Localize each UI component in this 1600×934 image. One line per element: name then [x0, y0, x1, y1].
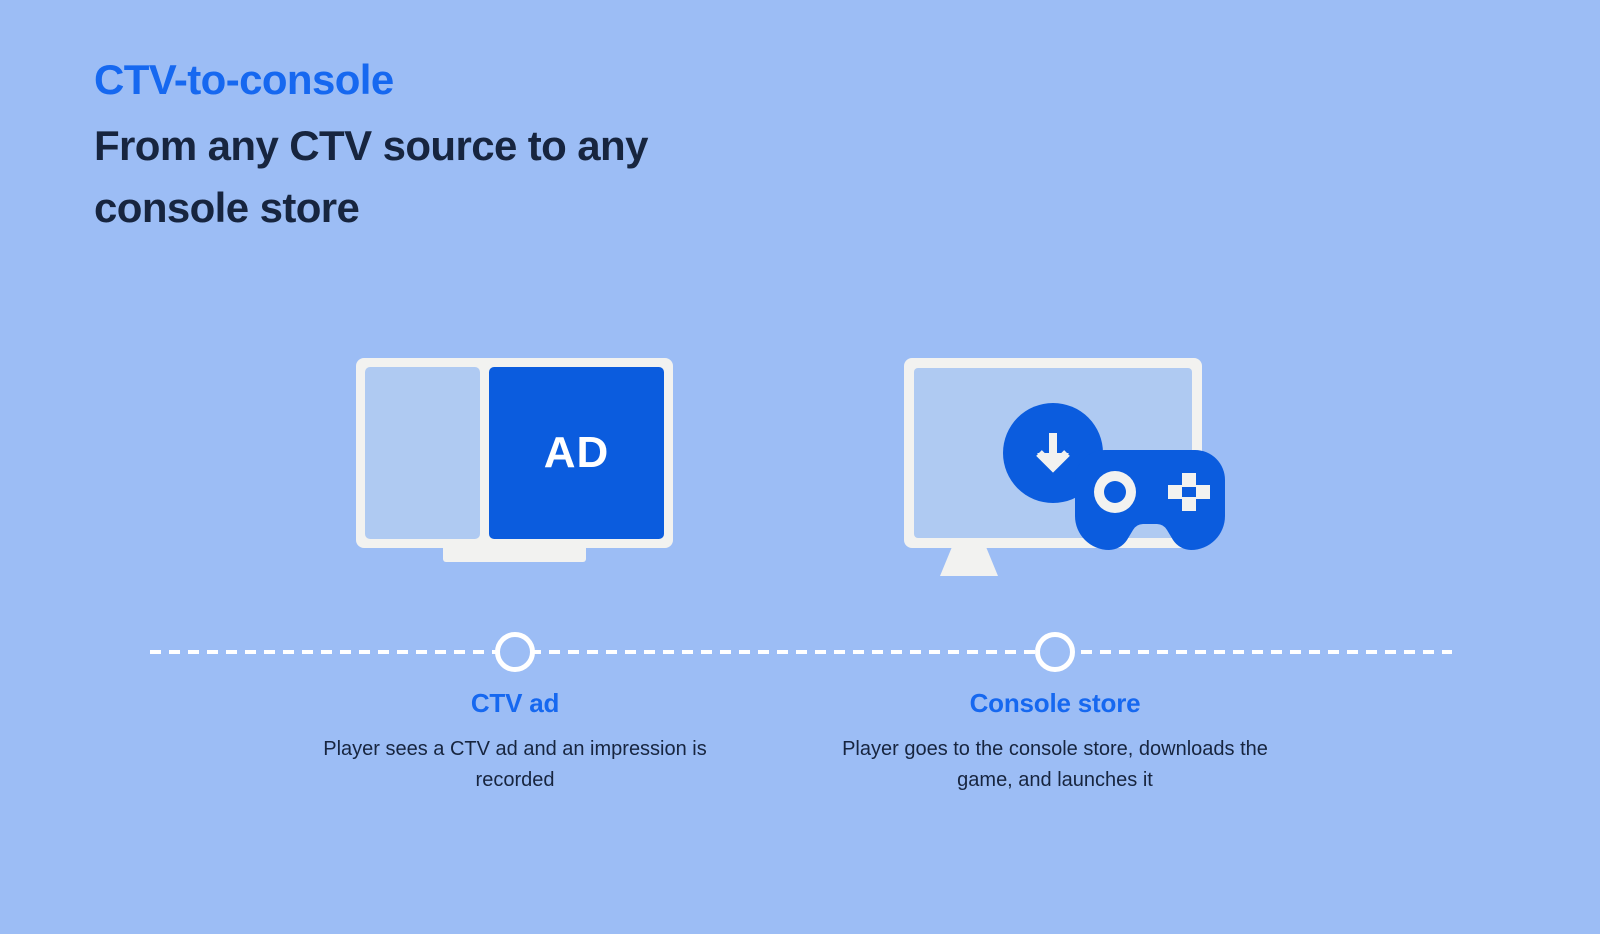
step-label-ctv-ad: CTV ad — [285, 688, 745, 719]
heading-block: CTV-to-console From any CTV source to an… — [94, 56, 854, 239]
step-description-ctv-ad: Player sees a CTV ad and an impression i… — [300, 734, 730, 796]
download-arrow-icon — [1025, 425, 1081, 481]
infographic-canvas: CTV-to-console From any CTV source to an… — [0, 0, 1600, 934]
tv-icon: AD — [356, 358, 673, 548]
tv-base — [443, 548, 586, 562]
eyebrow-label: CTV-to-console — [94, 56, 854, 103]
timeline-dashed-line — [150, 650, 1452, 654]
ctv-ad-artwork: AD — [285, 330, 745, 600]
page-title: From any CTV source to any console store — [94, 115, 654, 239]
step-description-console-store: Player goes to the console store, downlo… — [840, 734, 1270, 796]
ad-panel: AD — [489, 367, 664, 539]
tv-content-panel — [365, 367, 480, 539]
ad-label: AD — [544, 428, 610, 478]
timeline-marker-console-store[interactable] — [1035, 632, 1075, 672]
timeline-marker-ctv-ad[interactable] — [495, 632, 535, 672]
gamepad-icon — [1075, 450, 1225, 550]
step-ctv-ad: AD — [285, 330, 745, 600]
console-store-artwork — [825, 330, 1285, 600]
step-label-console-store: Console store — [825, 688, 1285, 719]
step-console-store — [825, 330, 1285, 600]
